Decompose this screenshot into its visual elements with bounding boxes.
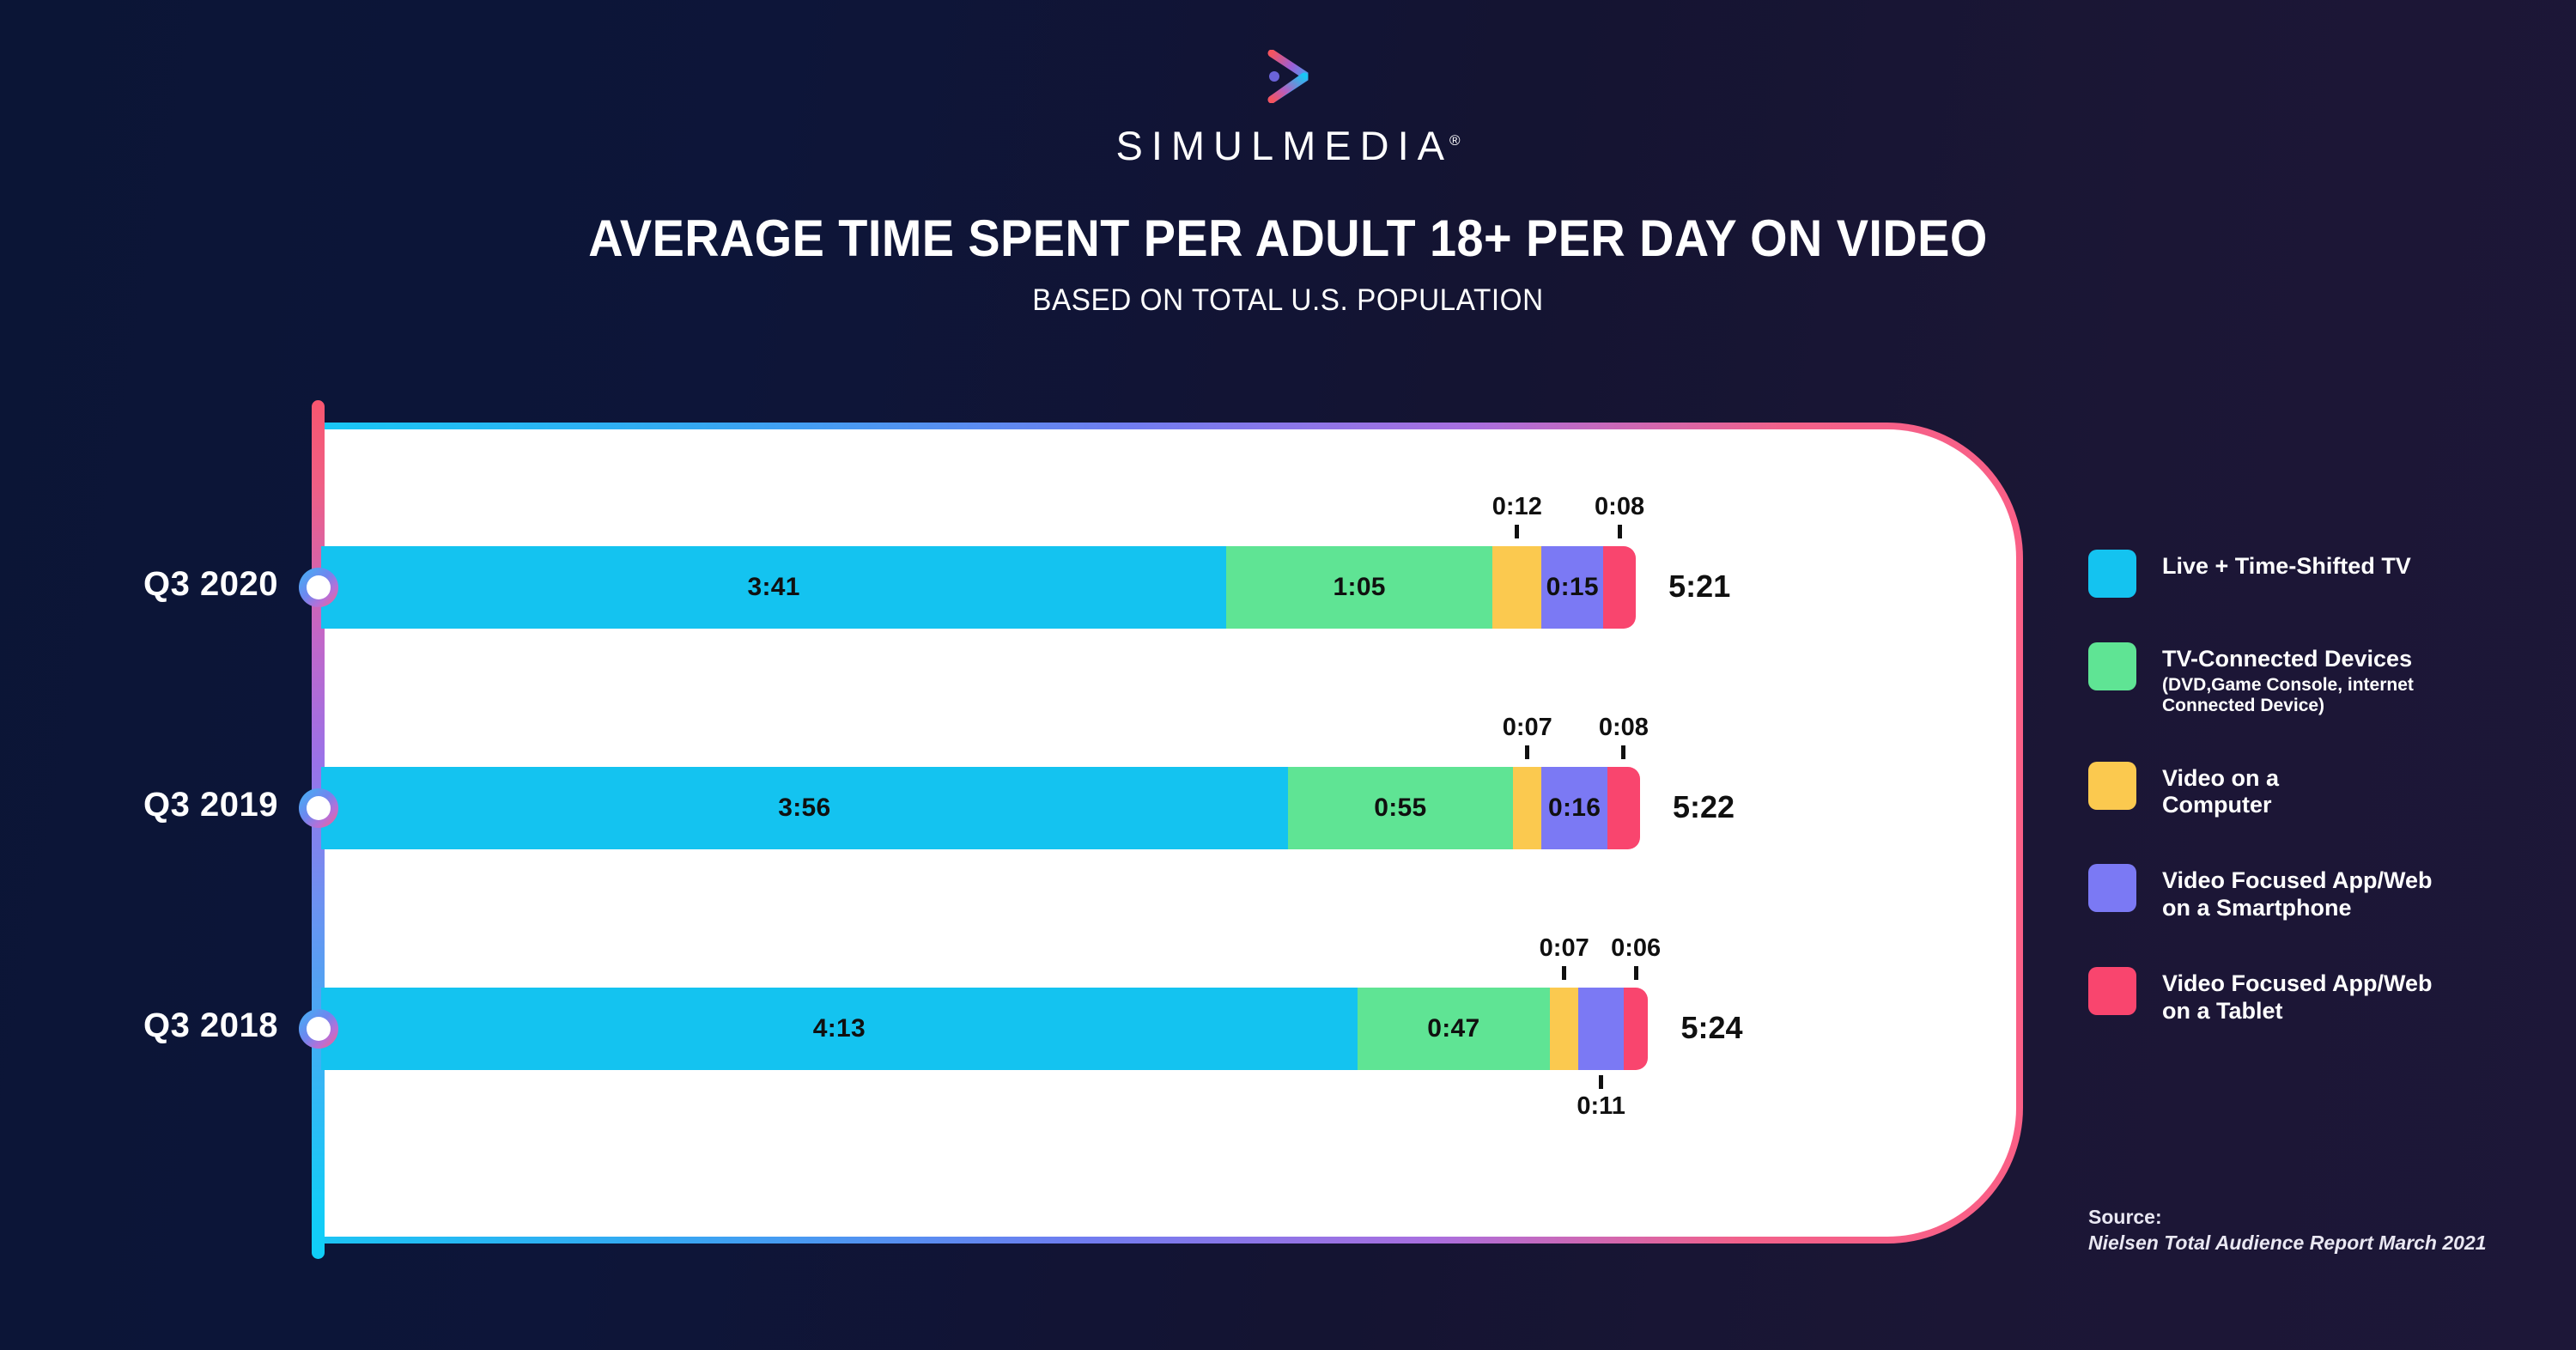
callout-value: 0:08 (1595, 493, 1644, 521)
legend-item[interactable]: Video on aComputer (2088, 762, 2535, 820)
segment-value-label: 1:05 (1334, 573, 1386, 602)
brand-logo: SIMULMEDIA® (0, 50, 2576, 169)
callout-leader-line (1599, 1075, 1603, 1089)
legend-swatch (2088, 550, 2136, 598)
segment-callout-tablet: 0:06 (1584, 934, 1687, 980)
brand-wordmark-text: SIMULMEDIA (1115, 123, 1453, 168)
callout-value: 0:07 (1503, 714, 1552, 742)
segment-value-label: 0:47 (1427, 1014, 1479, 1043)
page-title: AVERAGE TIME SPENT PER ADULT 18+ PER DAY… (90, 209, 2486, 268)
page-subtitle: BASED ON TOTAL U.S. POPULATION (64, 283, 2512, 318)
callout-leader-line (1621, 745, 1625, 759)
category-label: Q3 2019 (21, 786, 278, 824)
legend-text: Video on aComputer (2162, 762, 2279, 820)
bar-segment-tv_connected: 0:47 (1358, 988, 1550, 1070)
legend-label: Video Focused App/Webon a Smartphone (2162, 867, 2433, 922)
callout-value: 0:06 (1611, 934, 1661, 963)
callout-leader-line (1618, 525, 1622, 538)
source-text: Nielsen Total Audience Report March 2021 (2088, 1231, 2487, 1255)
bar-row: 4:130:47 (321, 988, 1648, 1070)
bar-segment-live_tv: 3:41 (321, 546, 1226, 629)
segment-callout-computer: 0:12 (1466, 493, 1569, 538)
segment-value-label: 0:15 (1546, 573, 1599, 602)
category-label: Q3 2020 (21, 565, 278, 604)
segment-value-label: 4:13 (813, 1014, 866, 1043)
row-total-label: 5:24 (1680, 1010, 1742, 1046)
bar-segment-computer (1492, 546, 1541, 629)
bar-segment-smartphone (1578, 988, 1623, 1070)
category-label: Q3 2018 (21, 1006, 278, 1045)
callout-value: 0:11 (1577, 1092, 1625, 1121)
axis-marker-dot (307, 1017, 331, 1041)
callout-leader-line (1562, 966, 1566, 980)
legend-swatch (2088, 762, 2136, 810)
legend-label: Video on aComputer (2162, 765, 2279, 820)
legend-swatch (2088, 967, 2136, 1015)
legend-label: Video Focused App/Webon a Tablet (2162, 970, 2433, 1025)
segment-value-label: 3:56 (778, 794, 830, 823)
legend-item[interactable]: Video Focused App/Webon a Tablet (2088, 967, 2535, 1025)
legend-label: TV-Connected Devices (2162, 646, 2414, 673)
header: SIMULMEDIA® AVERAGE TIME SPENT PER ADULT… (0, 0, 2576, 318)
callout-value: 0:08 (1599, 714, 1649, 742)
segment-value-label: 0:55 (1374, 794, 1426, 823)
legend: Live + Time-Shifted TVTV-Connected Devic… (2088, 550, 2535, 1070)
legend-item[interactable]: TV-Connected Devices(DVD,Game Console, i… (2088, 642, 2535, 717)
brand-wordmark: SIMULMEDIA® (1115, 122, 1460, 169)
registered-mark: ® (1449, 132, 1461, 149)
bar-segment-smartphone: 0:16 (1541, 767, 1607, 849)
source-label: Source: (2088, 1206, 2487, 1229)
segment-value-label: 3:41 (747, 573, 799, 602)
legend-swatch (2088, 864, 2136, 912)
callout-leader-line (1515, 525, 1519, 538)
row-total-label: 5:22 (1673, 789, 1735, 825)
bar-row: 3:560:550:16 (321, 767, 1640, 849)
segment-callout-tablet: 0:08 (1572, 714, 1675, 759)
axis-marker (299, 788, 338, 828)
legend-item[interactable]: Video Focused App/Webon a Smartphone (2088, 864, 2535, 922)
legend-text: Video Focused App/Webon a Smartphone (2162, 864, 2433, 922)
bar-segment-smartphone: 0:15 (1541, 546, 1603, 629)
callout-value: 0:12 (1492, 493, 1542, 521)
legend-text: Video Focused App/Webon a Tablet (2162, 967, 2433, 1025)
bar-segment-tablet (1607, 767, 1640, 849)
callout-leader-line (1634, 966, 1638, 980)
callout-leader-line (1525, 745, 1529, 759)
legend-label: Live + Time-Shifted TV (2162, 553, 2411, 581)
bar-segment-computer (1513, 767, 1541, 849)
axis-marker-dot (307, 796, 331, 820)
legend-swatch (2088, 642, 2136, 690)
legend-text: Live + Time-Shifted TV (2162, 550, 2411, 581)
segment-value-label: 0:16 (1548, 794, 1601, 823)
bar-row: 3:411:050:15 (321, 546, 1636, 629)
bar-segment-tv_connected: 0:55 (1288, 767, 1513, 849)
bar-segment-tablet (1624, 988, 1649, 1070)
axis-marker (299, 1009, 338, 1049)
legend-text: TV-Connected Devices(DVD,Game Console, i… (2162, 642, 2414, 717)
legend-sublabel: (DVD,Game Console, internet Connected De… (2162, 675, 2414, 717)
axis-marker (299, 568, 338, 607)
bar-segment-computer (1550, 988, 1578, 1070)
bar-segment-tablet (1603, 546, 1636, 629)
segment-callout-tablet: 0:08 (1568, 493, 1671, 538)
play-chevron-logo-icon (1263, 50, 1313, 103)
axis-marker-dot (307, 575, 331, 599)
legend-item[interactable]: Live + Time-Shifted TV (2088, 550, 2535, 598)
bar-segment-tv_connected: 1:05 (1226, 546, 1492, 629)
bar-segment-live_tv: 3:56 (321, 767, 1288, 849)
segment-callout-computer: 0:07 (1476, 714, 1579, 759)
bar-segment-live_tv: 4:13 (321, 988, 1358, 1070)
source-note: Source: Nielsen Total Audience Report Ma… (2088, 1206, 2487, 1255)
segment-callout-smartphone: 0:11 (1550, 1075, 1653, 1121)
row-total-label: 5:21 (1668, 569, 1730, 605)
callout-value: 0:07 (1540, 934, 1589, 963)
